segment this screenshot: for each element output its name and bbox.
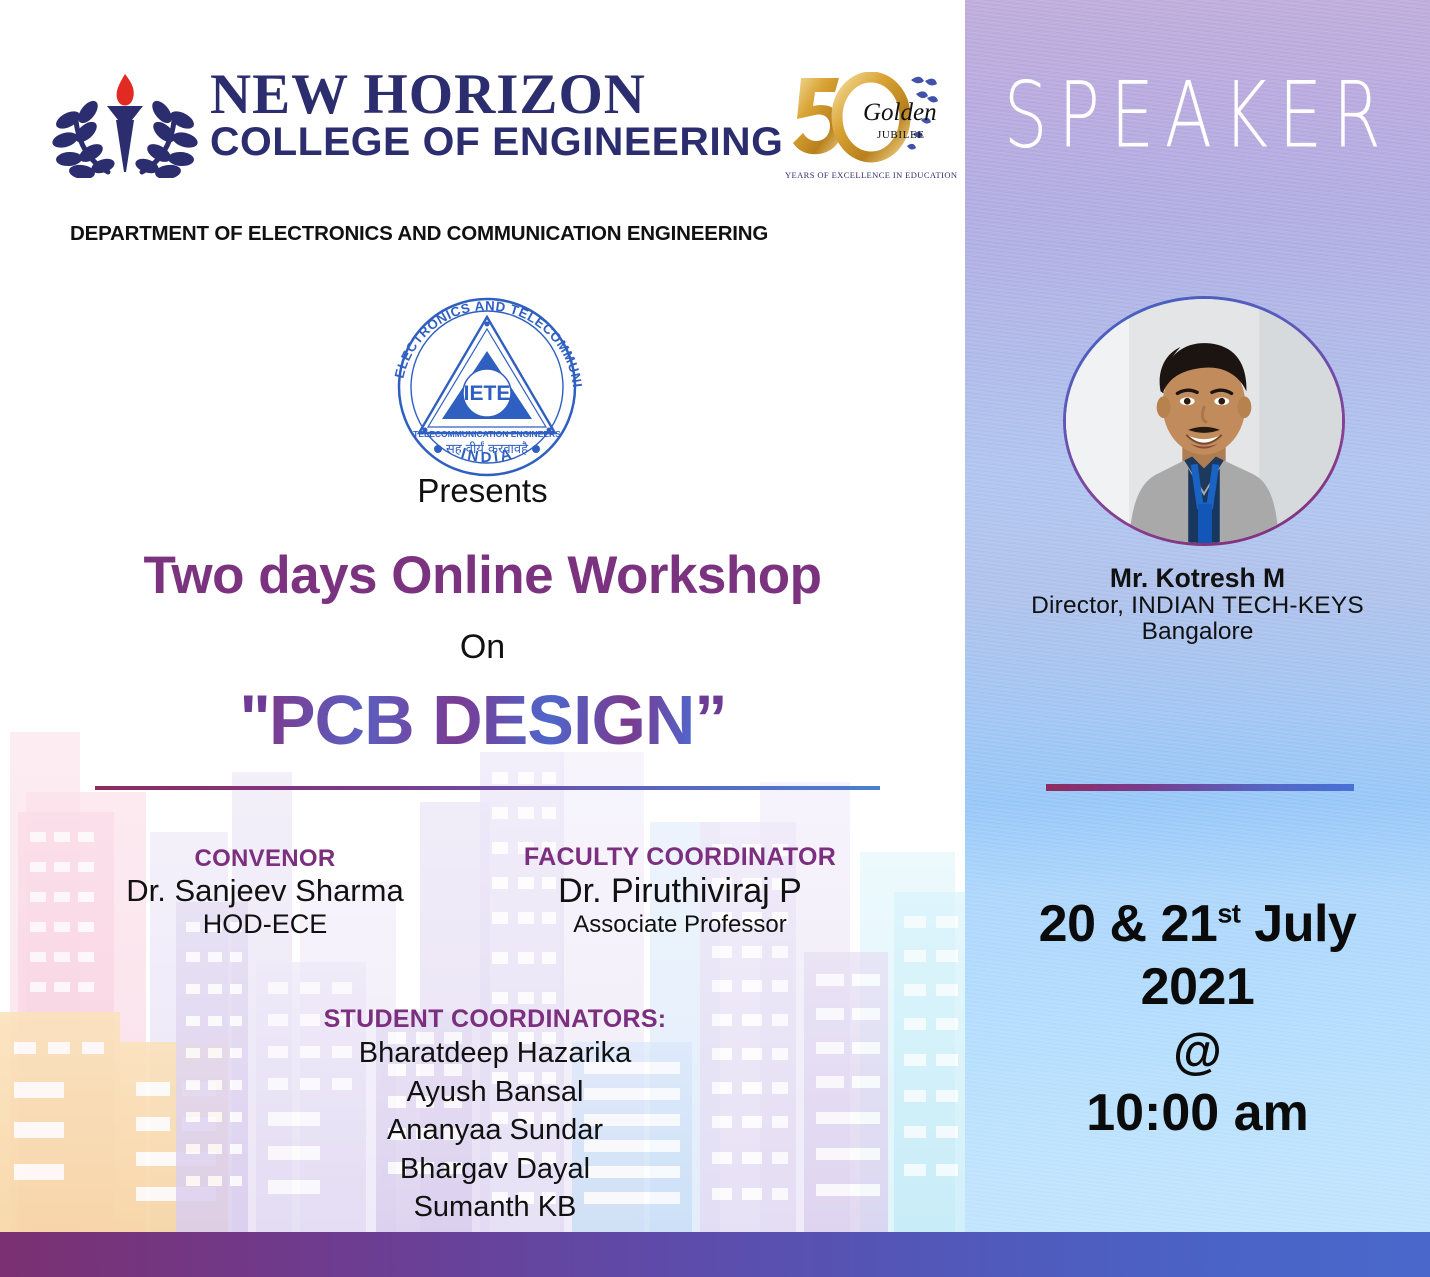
golden-jubilee-icon: Golden JUBILEE YEARS OF EXCELLENCE IN ED… bbox=[785, 72, 955, 180]
left-content-panel: NEW HORIZON COLLEGE OF ENGINEERING bbox=[0, 0, 965, 1277]
convenor-name: Dr. Sanjeev Sharma bbox=[85, 873, 445, 909]
college-name-line2: COLLEGE OF ENGINEERING bbox=[210, 122, 783, 162]
section-divider-left bbox=[95, 786, 880, 790]
faculty-coordinator-designation: Associate Professor bbox=[470, 911, 890, 939]
avatar bbox=[1066, 299, 1342, 543]
jubilee-script: Golden bbox=[863, 102, 937, 125]
faculty-coordinator-name: Dr. Piruthiviraj P bbox=[470, 872, 890, 911]
event-date-month: July bbox=[1240, 895, 1356, 953]
college-name: NEW HORIZON COLLEGE OF ENGINEERING bbox=[210, 68, 772, 162]
iete-logo: THE INSTITUTION OF ELECTRONICS AND TELEC… bbox=[380, 283, 595, 478]
speaker-name: Mr. Kotresh M bbox=[965, 563, 1430, 594]
event-time: 10:00 am bbox=[965, 1082, 1430, 1145]
schedule-block: 20 & 21st July 2021 @ 10:00 am bbox=[965, 893, 1430, 1146]
speaker-heading: SPEAKER bbox=[977, 70, 1419, 161]
list-item: Ananyaa Sundar bbox=[230, 1111, 760, 1150]
at-symbol: @ bbox=[965, 1020, 1430, 1083]
list-item: Bharatdeep Hazarika bbox=[230, 1034, 760, 1073]
speaker-avatar-ring bbox=[1063, 296, 1345, 546]
event-poster: NEW HORIZON COLLEGE OF ENGINEERING bbox=[0, 0, 1430, 1277]
topic-text: PCB DESIGN bbox=[269, 681, 695, 759]
department-name: DEPARTMENT OF ELECTRONICS AND COMMUNICAT… bbox=[70, 222, 768, 246]
convenor-designation: HOD-ECE bbox=[85, 909, 445, 940]
on-label: On bbox=[0, 628, 965, 667]
quote-open: " bbox=[240, 681, 269, 755]
quote-close: ” bbox=[694, 681, 725, 755]
faculty-coordinator-block: FACULTY COORDINATOR Dr. Piruthiviraj P A… bbox=[470, 843, 890, 939]
faculty-coordinator-role: FACULTY COORDINATOR bbox=[470, 843, 890, 872]
footer-bar bbox=[0, 1232, 1430, 1277]
iete-motto: सह वीर्यं करवावहै bbox=[446, 441, 529, 457]
college-name-line1: NEW HORIZON bbox=[210, 68, 772, 122]
event-date-line: 20 & 21st July bbox=[965, 893, 1430, 956]
student-coordinators-block: STUDENT COORDINATORS: Bharatdeep Hazarik… bbox=[230, 1005, 760, 1227]
convenor-role: CONVENOR bbox=[85, 845, 445, 873]
event-date-days: 20 & 21 bbox=[1039, 895, 1218, 953]
torch-laurel-icon bbox=[50, 68, 200, 178]
workshop-topic: "PCB DESIGN” bbox=[0, 680, 965, 760]
event-year: 2021 bbox=[965, 956, 1430, 1019]
list-item: Bhargav Dayal bbox=[230, 1150, 760, 1189]
section-divider-right bbox=[1046, 784, 1354, 791]
convenor-block: CONVENOR Dr. Sanjeev Sharma HOD-ECE bbox=[85, 845, 445, 940]
jubilee-tagline: YEARS OF EXCELLENCE IN EDUCATION bbox=[785, 170, 955, 180]
list-item: Sumanth KB bbox=[230, 1188, 760, 1227]
presents-label: Presents bbox=[0, 472, 965, 510]
student-coordinators-heading: STUDENT COORDINATORS: bbox=[230, 1005, 760, 1034]
iete-acronym: IETE bbox=[464, 382, 511, 405]
college-header: NEW HORIZON COLLEGE OF ENGINEERING bbox=[50, 60, 940, 180]
speaker-city: Bangalore bbox=[965, 618, 1430, 646]
workshop-title: Two days Online Workshop bbox=[0, 545, 965, 606]
list-item: Ayush Bansal bbox=[230, 1073, 760, 1112]
speaker-role: Director, INDIAN TECH-KEYS bbox=[965, 592, 1430, 620]
iete-inner-lower: TELECOMMUNICATION ENGINEERS bbox=[413, 429, 561, 439]
jubilee-script-sub: JUBILEE bbox=[877, 129, 925, 141]
event-date-ordinal: st bbox=[1217, 899, 1240, 929]
